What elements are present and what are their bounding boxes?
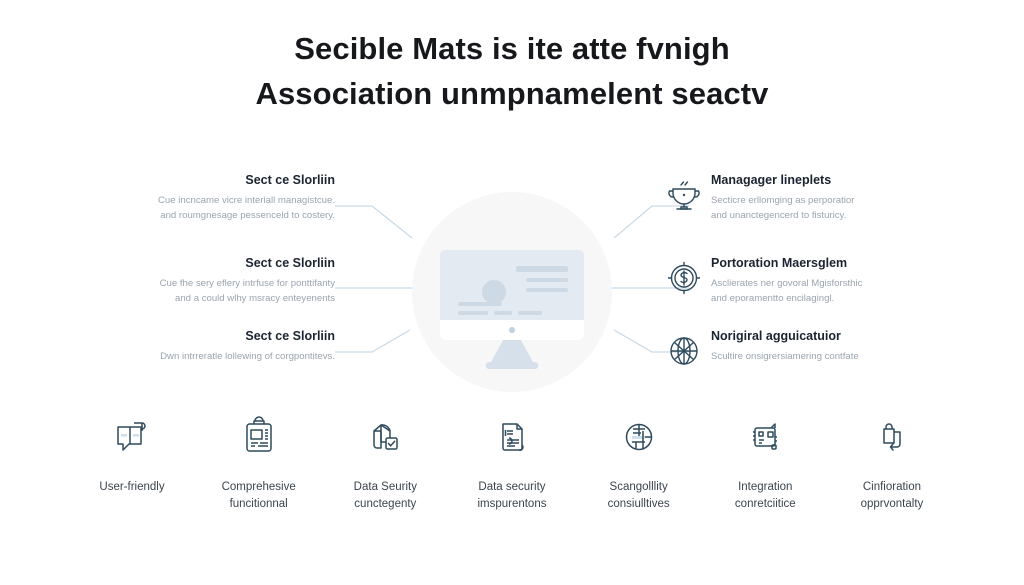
- bottom-item-2: Comprehesive funcitionnal: [199, 405, 319, 513]
- bottom-label-line2: conretciitice: [705, 496, 825, 513]
- bottom-item-3: Data Seurity cunctegenty: [325, 405, 445, 513]
- monitor-icon: [440, 250, 584, 340]
- feature-desc-line1: Secticre erllomging as perporatior: [711, 193, 971, 208]
- feature-left-3: Sect ce Slorliin Dwn intrreratle lollewi…: [35, 328, 335, 364]
- bottom-item-7: Cinfioration opprvontalty: [832, 405, 952, 513]
- bottom-feature-row: User-friendly Comprehesive funcitionnal: [72, 405, 952, 513]
- center-illustration: [412, 192, 612, 392]
- feature-title: Sect ce Slorliin: [35, 328, 335, 345]
- chat-bubble-icon: [72, 405, 192, 467]
- bottom-label: Data security imspurentons: [452, 479, 572, 513]
- feature-left-2: Sect ce Slorliin Cue fhe sery eflery int…: [35, 255, 335, 306]
- bottom-label-line1: Cinfioration: [832, 479, 952, 496]
- screen-bar: [526, 278, 568, 282]
- dollar-coin-icon: [665, 259, 703, 297]
- bottom-label-line1: User-friendly: [72, 479, 192, 496]
- monitor-base-strip: [440, 320, 584, 340]
- module-card-icon: [705, 405, 825, 467]
- bottom-label: User-friendly: [72, 479, 192, 496]
- screen-avatar: [482, 280, 506, 304]
- bottom-item-4: Data security imspurentons: [452, 405, 572, 513]
- document-icon: [452, 405, 572, 467]
- feature-desc-line1: Dwn intrreratle lollewing of corgpontite…: [35, 349, 335, 364]
- feature-desc-line2: and roumgnesage pessenceld to costery.: [35, 208, 335, 223]
- feature-title: Sect ce Slorliin: [35, 255, 335, 272]
- bottom-label-line2: consiulltives: [579, 496, 699, 513]
- globe-icon: [665, 332, 703, 370]
- bottom-label-line2: opprvontalty: [832, 496, 952, 513]
- bottom-label-line1: Data security: [452, 479, 572, 496]
- bottom-item-6: Integration conretciitice: [705, 405, 825, 513]
- bottom-label-line1: Integration: [705, 479, 825, 496]
- feature-desc-line1: Scultire onsigrersiamering contfate: [711, 349, 971, 364]
- screen-bar: [526, 288, 568, 292]
- feature-desc-line1: Asclierates ner govoral Mgisforsthic: [711, 276, 971, 291]
- screen-bar: [458, 311, 488, 315]
- clipboard-icon: [199, 405, 319, 467]
- bottom-label: Data Seurity cunctegenty: [325, 479, 445, 513]
- feature-desc-line2: and a could wlhy msracy enteyenents: [35, 291, 335, 306]
- monitor-indicator-dot: [509, 327, 515, 333]
- screen-bar: [516, 266, 568, 272]
- monitor-stand-foot: [486, 362, 538, 369]
- bottom-label-line1: Data Seurity: [325, 479, 445, 496]
- bottom-label: Scangolllity consiulltives: [579, 479, 699, 513]
- feature-right-3: Norigiral agguicatuior Scultire onsigrer…: [665, 328, 971, 364]
- bottom-label-line2: imspurentons: [452, 496, 572, 513]
- bottom-label-line1: Comprehesive: [199, 479, 319, 496]
- bottom-label: Cinfioration opprvontalty: [832, 479, 952, 513]
- screen-bar: [458, 302, 502, 306]
- bottom-item-1: User-friendly: [72, 405, 192, 513]
- feature-left-1: Sect ce Slorliin Cue incncame vicre inte…: [35, 172, 335, 223]
- feature-right-2: Portoration Maersglem Asclierates ner go…: [665, 255, 971, 306]
- bottom-label-line2: funcitionnal: [199, 496, 319, 513]
- infographic-canvas: Secible Mats is ite atte fvnigh Associat…: [0, 0, 1024, 585]
- feature-title: Managager lineplets: [711, 172, 971, 189]
- bottom-item-5: Scangolllity consiulltives: [579, 405, 699, 513]
- bottom-label-line2: cunctegenty: [325, 496, 445, 513]
- bottom-label: Comprehesive funcitionnal: [199, 479, 319, 513]
- feature-title: Portoration Maersglem: [711, 255, 971, 272]
- feature-desc-line1: Cue fhe sery eflery intrfuse for ponttif…: [35, 276, 335, 291]
- trophy-cup-icon: [665, 176, 703, 214]
- bottom-label-line1: Scangolllity: [579, 479, 699, 496]
- feature-desc-line2: and unanctegencerd to fisturicy.: [711, 208, 971, 223]
- title-line-1: Secible Mats is ite atte fvnigh: [0, 26, 1024, 71]
- page-title: Secible Mats is ite atte fvnigh Associat…: [0, 26, 1024, 116]
- monitor-screen: [440, 250, 584, 320]
- feature-title: Sect ce Slorliin: [35, 172, 335, 189]
- bottom-label: Integration conretciitice: [705, 479, 825, 513]
- feature-desc-line1: Cue incncame vicre interiall managistcue…: [35, 193, 335, 208]
- title-line-2: Association unmpnamelent seactv: [0, 71, 1024, 116]
- shield-check-icon: [325, 405, 445, 467]
- feature-right-1: Managager lineplets Secticre erllomging …: [665, 172, 971, 223]
- lock-shapes-icon: [832, 405, 952, 467]
- pie-chart-icon: [579, 405, 699, 467]
- feature-desc-line2: and eporamentto encilagingl.: [711, 291, 971, 306]
- feature-title: Norigiral agguicatuior: [711, 328, 971, 345]
- screen-bar: [518, 311, 542, 315]
- screen-bar: [494, 311, 512, 315]
